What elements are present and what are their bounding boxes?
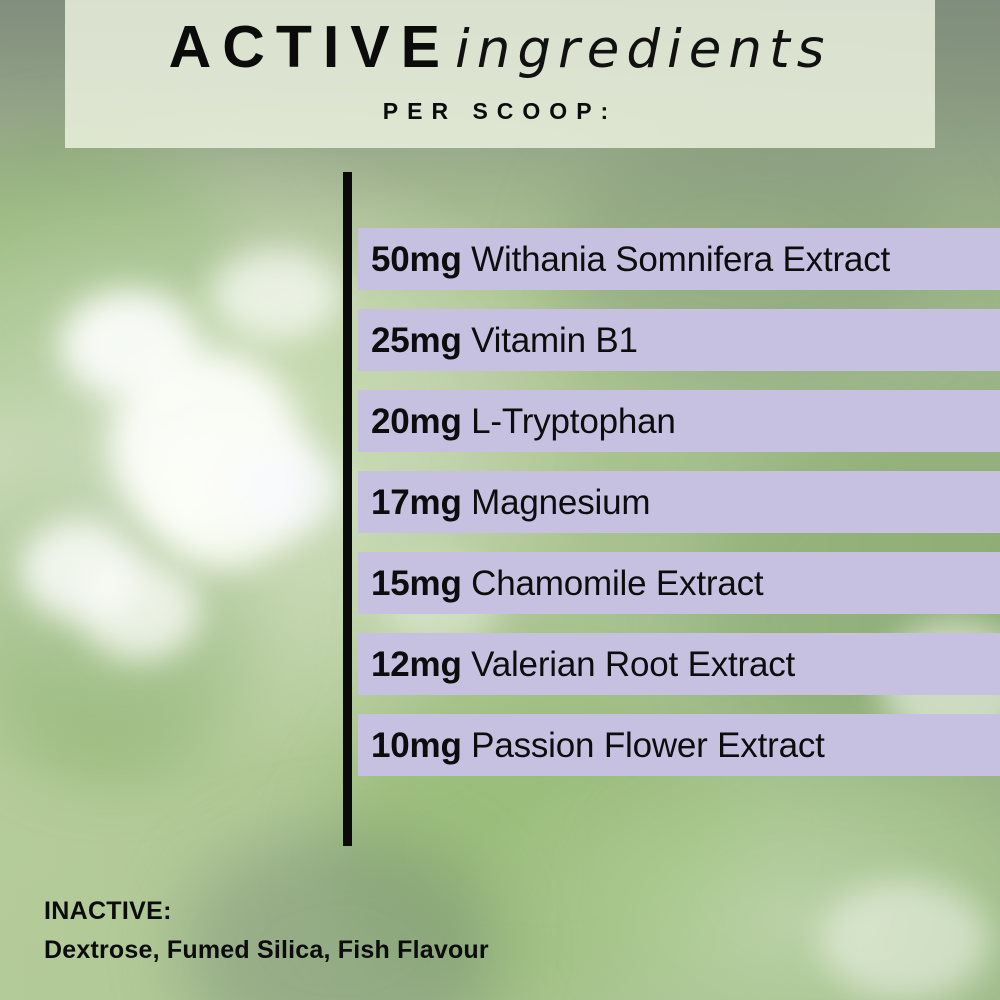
ingredient-row-text: 25mg Vitamin B1 xyxy=(371,323,638,358)
title-ingredients: ingredients xyxy=(455,19,831,80)
list-item: 50mg Withania Somnifera Extract xyxy=(358,228,1000,290)
ingredient-dose: 17mg xyxy=(371,483,462,522)
list-item: 15mg Chamomile Extract xyxy=(358,552,1000,614)
ingredient-dose: 10mg xyxy=(371,726,462,765)
ingredient-row-text: 15mg Chamomile Extract xyxy=(371,566,763,601)
list-item: 25mg Vitamin B1 xyxy=(358,309,1000,371)
ingredient-name: Chamomile Extract xyxy=(471,564,763,603)
ingredient-row-text: 12mg Valerian Root Extract xyxy=(371,647,795,682)
ingredient-dose: 50mg xyxy=(371,240,462,279)
ingredients-infographic: ACTIVEingredients PER SCOOP: 50mg Withan… xyxy=(0,0,1000,1000)
ingredient-row-text: 20mg L-Tryptophan xyxy=(371,404,676,439)
ingredient-row-text: 50mg Withania Somnifera Extract xyxy=(371,242,890,277)
ingredient-row-text: 10mg Passion Flower Extract xyxy=(371,728,825,763)
ingredient-dose: 20mg xyxy=(371,402,462,441)
ingredient-row-text: 17mg Magnesium xyxy=(371,485,650,520)
header-panel: ACTIVEingredients PER SCOOP: xyxy=(65,0,935,148)
vertical-rule-divider xyxy=(343,172,352,846)
list-item: 17mg Magnesium xyxy=(358,471,1000,533)
ingredient-dose: 15mg xyxy=(371,564,462,603)
ingredient-dose: 12mg xyxy=(371,645,462,684)
inactive-ingredients-block: INACTIVE: Dextrose, Fumed Silica, Fish F… xyxy=(44,896,489,967)
ingredient-name: Vitamin B1 xyxy=(471,321,638,360)
ingredient-name: Magnesium xyxy=(471,483,650,522)
ingredient-list: 50mg Withania Somnifera Extract 25mg Vit… xyxy=(358,228,1000,776)
list-item: 12mg Valerian Root Extract xyxy=(358,633,1000,695)
header-subtitle: PER SCOOP: xyxy=(65,98,935,125)
list-item: 10mg Passion Flower Extract xyxy=(358,714,1000,776)
ingredient-name: L-Tryptophan xyxy=(471,402,675,441)
page-title: ACTIVEingredients xyxy=(65,18,935,77)
title-active: ACTIVE xyxy=(169,14,451,80)
ingredient-name: Valerian Root Extract xyxy=(471,645,795,684)
inactive-label: INACTIVE: xyxy=(44,896,489,927)
ingredient-dose: 25mg xyxy=(371,321,462,360)
ingredient-name: Passion Flower Extract xyxy=(471,726,825,765)
ingredient-name: Withania Somnifera Extract xyxy=(471,240,890,279)
list-item: 20mg L-Tryptophan xyxy=(358,390,1000,452)
inactive-list: Dextrose, Fumed Silica, Fish Flavour xyxy=(44,935,489,966)
